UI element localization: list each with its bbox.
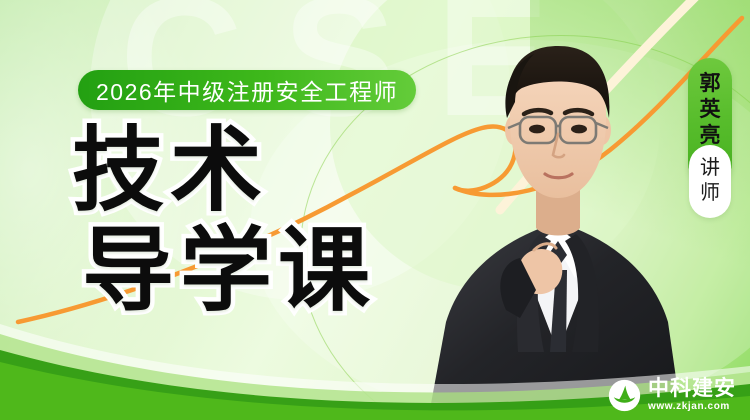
instructor-name-char-1: 郭: [700, 71, 721, 97]
instructor-name-char-2: 英: [700, 97, 721, 123]
circle-arrow-logo-icon: [608, 379, 641, 412]
brand-name: 中科建安: [648, 378, 736, 399]
brand-website: www.zkjan.com: [648, 402, 736, 412]
headline-line-1: 技术: [72, 126, 376, 216]
exam-title-pill: 2026年中级注册安全工程师: [78, 70, 416, 110]
instructor-role-char-2: 师: [700, 181, 720, 206]
instructor-role-char-1: 讲: [700, 156, 720, 181]
instructor-role-pill: 讲 师: [689, 145, 731, 218]
brand-logo: 中科建安 www.zkjan.com: [608, 378, 736, 412]
page-title: 技术 导学课: [72, 126, 376, 316]
course-promo-banner: CSE: [0, 0, 750, 420]
exam-title-label: 2026年中级注册安全工程师: [96, 73, 398, 107]
headline-line-2: 导学课: [82, 226, 376, 316]
brand-logo-text: 中科建安 www.zkjan.com: [648, 378, 736, 412]
